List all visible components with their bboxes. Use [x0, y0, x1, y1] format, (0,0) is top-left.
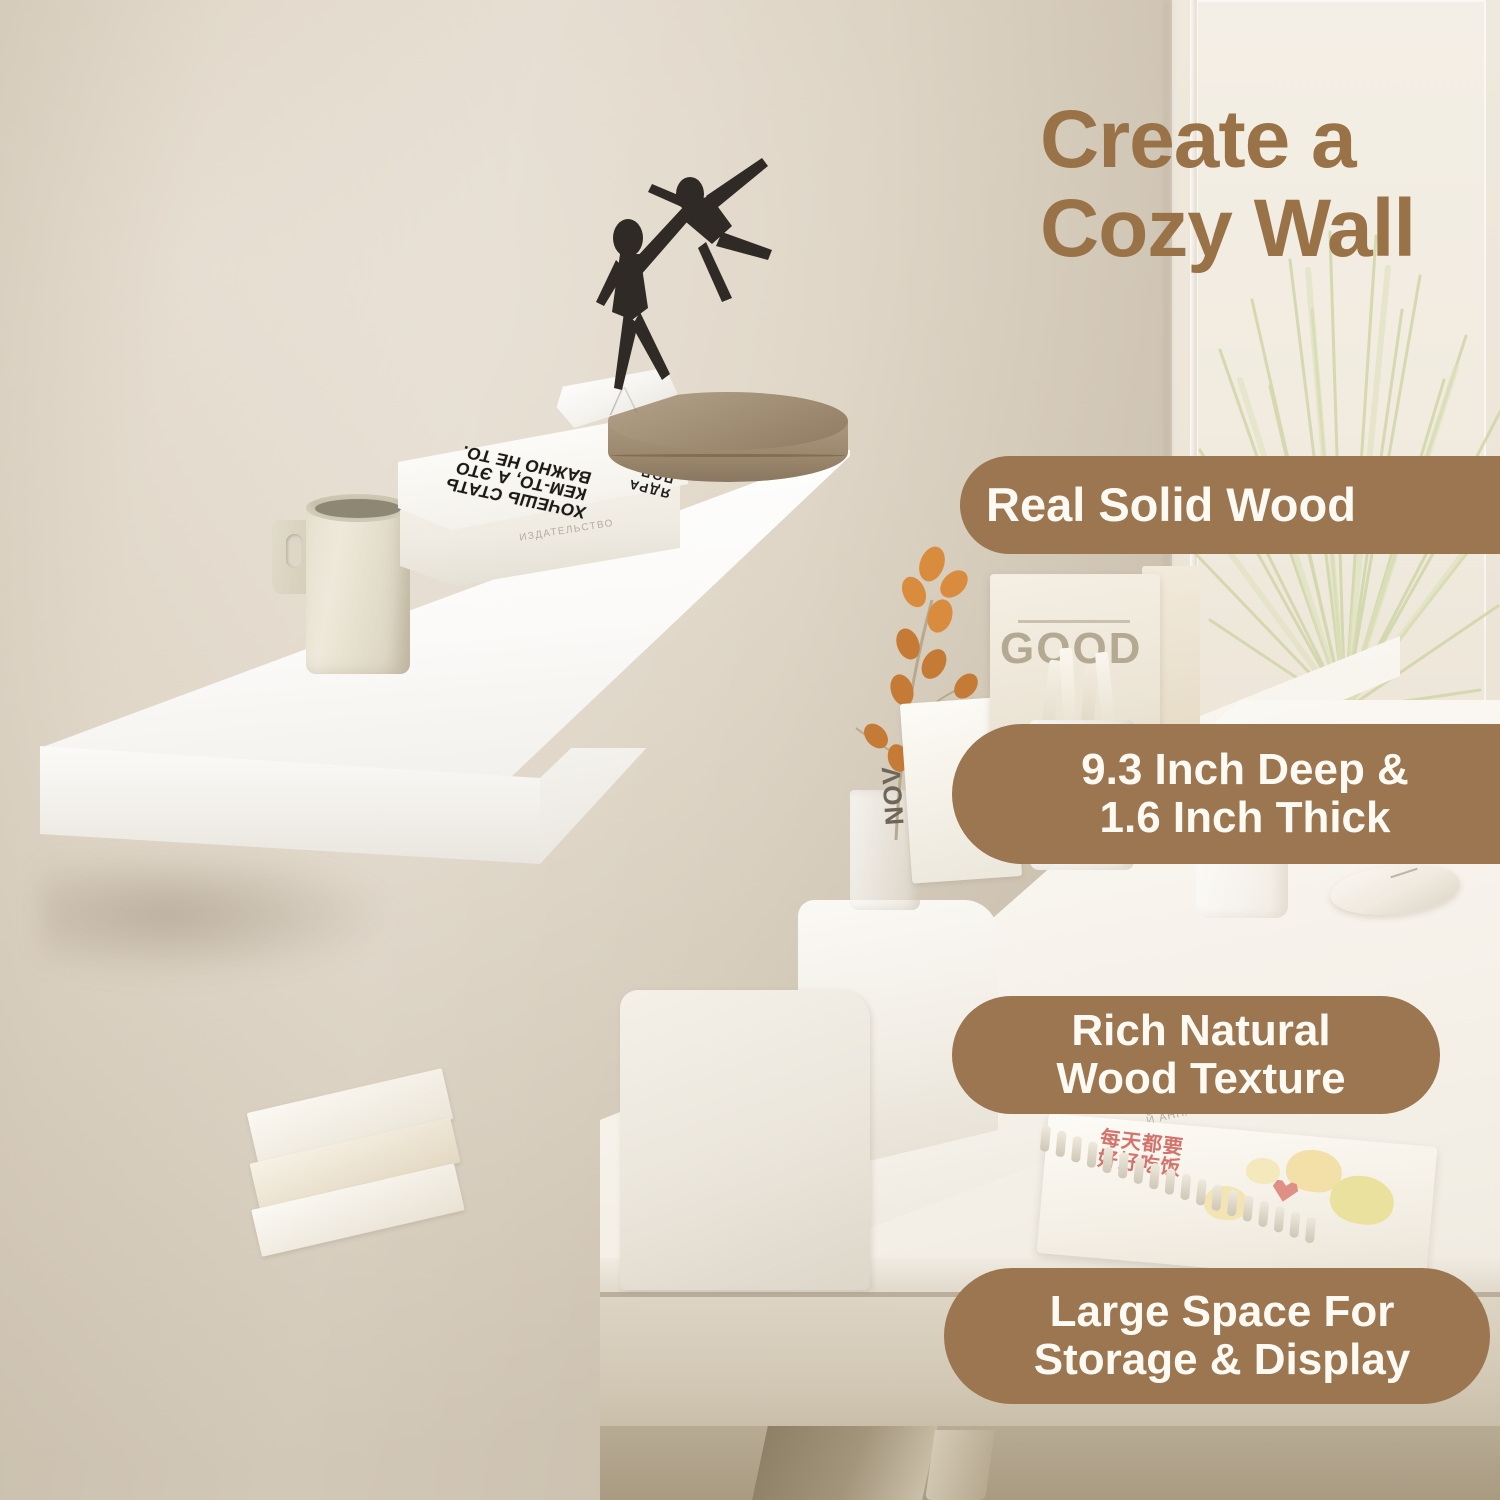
feature-badge-3-labels: Rich Natural Wood Texture — [962, 1007, 1440, 1104]
shelf-wall-shadow — [40, 860, 560, 1040]
feature-badge-4-line-2: Storage & Display — [954, 1336, 1490, 1384]
organizer-books — [250, 1090, 490, 1290]
feature-badge-real-solid-wood[interactable]: Real Solid Wood — [960, 456, 1500, 554]
desk-leg-left — [752, 1426, 938, 1500]
feature-badge-dimensions[interactable]: 9.3 Inch Deep & 1.6 Inch Thick — [952, 724, 1500, 864]
mug-interior — [315, 499, 401, 518]
headline-line-2: Cozy Wall — [1040, 185, 1500, 274]
feature-badge-large-space[interactable]: Large Space For Storage & Display — [944, 1268, 1490, 1404]
product-marketing-image: ХОЧЕШЬ СТАТЬ КЕМ-ТО, А ЭТО ВАЖНО НЕ ТО. … — [0, 0, 1500, 1500]
desk-underside — [600, 1426, 1500, 1500]
feature-badge-wood-texture[interactable]: Rich Natural Wood Texture — [952, 996, 1440, 1114]
mug-body — [306, 502, 410, 674]
mug-handle-hole — [286, 534, 303, 568]
feature-badge-4-line-1: Large Space For — [954, 1288, 1490, 1336]
bronze-figures-sculpture — [556, 152, 786, 402]
feature-badge-1-label: Real Solid Wood — [986, 479, 1500, 531]
feature-badge-3-line-2: Wood Texture — [962, 1055, 1440, 1103]
shelf-side-edge — [502, 748, 862, 868]
good-notebook-rule — [1018, 620, 1130, 623]
box-seam — [610, 454, 846, 457]
page-title: Create a Cozy Wall — [1040, 96, 1500, 273]
feature-badge-3-line-1: Rich Natural — [962, 1007, 1440, 1055]
feature-badge-4-labels: Large Space For Storage & Display — [954, 1288, 1490, 1385]
good-notebook-title: GOOD — [1000, 628, 1150, 670]
feature-badge-2-labels: 9.3 Inch Deep & 1.6 Inch Thick — [970, 746, 1500, 843]
headline-line-1: Create a — [1040, 94, 1356, 185]
organizer-front-panel — [620, 990, 870, 1290]
feature-badge-2-line-1: 9.3 Inch Deep & — [970, 746, 1500, 794]
feature-badge-2-line-2: 1.6 Inch Thick — [970, 794, 1500, 842]
notepad-spiral-binding — [1031, 1123, 1341, 1279]
desk-leg-right — [925, 1430, 995, 1500]
